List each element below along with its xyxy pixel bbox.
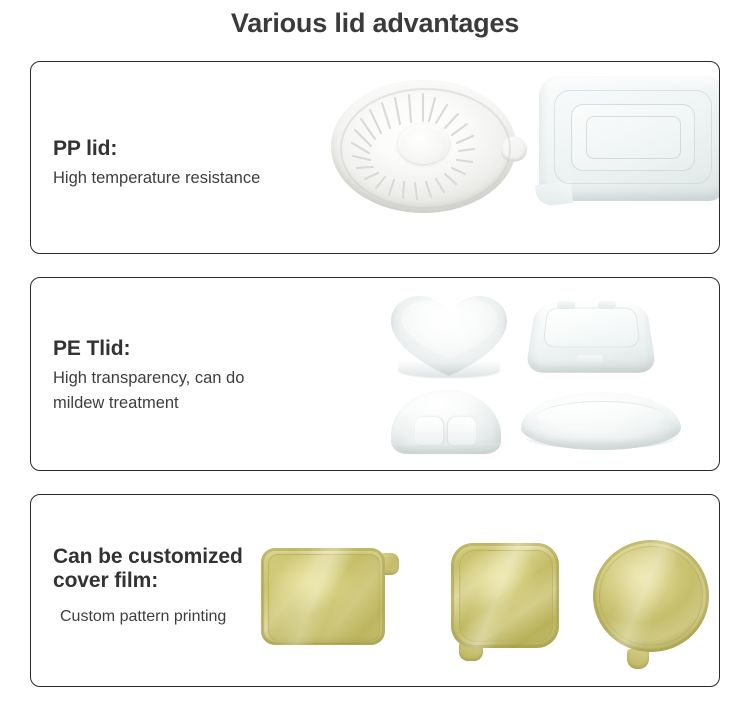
cover-film-text-block: Can be customized cover film: Custom pat… xyxy=(53,545,243,629)
square-pe-lid-top-panel xyxy=(543,307,641,347)
heart-pe-lid-image xyxy=(391,296,507,376)
pe-lid-heading: PE Tlid: xyxy=(53,337,244,361)
square-pe-lid-notch-left xyxy=(557,301,575,309)
round-gold-foil-lid-panel xyxy=(599,546,703,646)
rectangular-pp-lid-corner-flap xyxy=(535,181,573,207)
page-title: Various lid advantages xyxy=(0,8,750,39)
card-cover-film: Can be customized cover film: Custom pat… xyxy=(30,494,720,687)
pe-lid-text-block: PE Tlid: High transparency, can do milde… xyxy=(53,337,244,417)
round-gold-foil-lid-tab xyxy=(627,649,649,669)
card-pe-lid: PE Tlid: High transparency, can do milde… xyxy=(30,277,720,471)
square-pe-lid-notch-front xyxy=(577,355,603,363)
oval-pe-lid-crest xyxy=(537,401,665,428)
card-pp-lid: PP lid: High temperature resistance xyxy=(30,61,720,254)
dome-pe-lid-facet-left xyxy=(415,417,443,445)
pp-lid-heading: PP lid: xyxy=(53,137,260,161)
rectangular-pp-lid-ridge-inner xyxy=(586,116,681,159)
rectangular-gold-foil-lid-body xyxy=(261,548,385,645)
square-gold-foil-lid-panel xyxy=(459,550,553,642)
cover-film-description: Custom pattern printing xyxy=(53,605,243,629)
square-pe-lid-notch-right xyxy=(598,301,616,309)
rectangular-gold-foil-lid-image xyxy=(261,548,399,645)
dome-pe-lid-facet-right xyxy=(448,417,476,445)
round-pp-lid-image xyxy=(331,80,516,213)
round-gold-foil-lid-image xyxy=(593,540,715,665)
heart-pe-lid-base-rim xyxy=(398,362,500,378)
square-gold-foil-lid-body xyxy=(451,543,559,648)
oval-pe-lid-image xyxy=(521,392,681,450)
round-gold-foil-lid-body xyxy=(593,540,709,652)
cover-film-heading: Can be customized cover film: xyxy=(53,545,243,594)
dome-pe-lid-image xyxy=(391,390,501,454)
rectangular-gold-foil-lid-panel xyxy=(268,554,380,641)
oval-pe-lid-lip xyxy=(524,437,678,449)
square-gold-foil-lid-image xyxy=(451,543,563,659)
pe-lid-description: High transparency, can do mildew treatme… xyxy=(53,366,244,416)
round-pp-lid-center-hub xyxy=(398,124,450,164)
square-pe-lid-image xyxy=(531,296,651,374)
rectangular-pp-lid-image xyxy=(539,76,720,201)
pp-lid-text-block: PP lid: High temperature resistance xyxy=(53,137,260,191)
pp-lid-description: High temperature resistance xyxy=(53,166,260,191)
